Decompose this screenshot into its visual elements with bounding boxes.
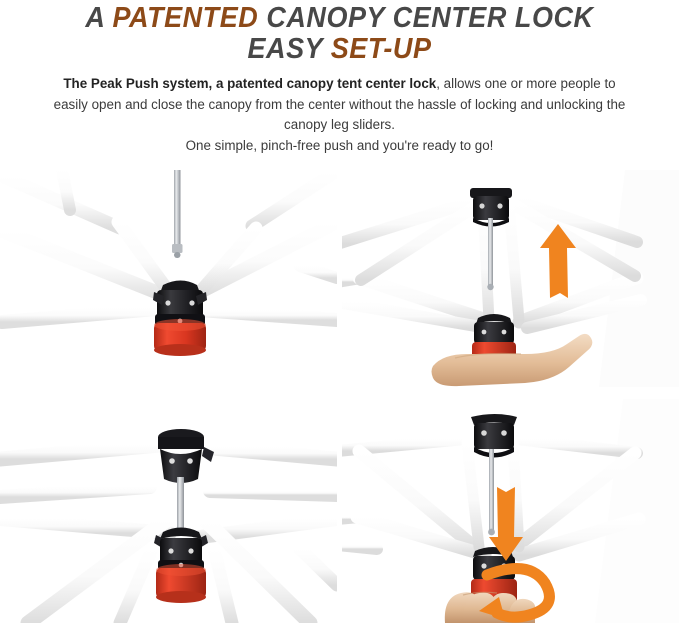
title-segment-accent-1: PATENTED — [112, 2, 258, 34]
title-segment-accent-2: SET-UP — [331, 33, 432, 65]
panel-2-lower-hub — [474, 314, 514, 344]
panel-3-canvas — [0, 399, 337, 623]
panel-3-red-collar — [156, 564, 206, 603]
panel-4-canvas — [337, 399, 679, 623]
header: A PATENTED CANOPY CENTER LOCK EASY SET-U… — [0, 0, 679, 156]
panel-2-illustration — [337, 170, 679, 387]
title-segment-plain-1: A — [85, 2, 112, 34]
page-title-line-2: EASY SET-UP — [37, 34, 642, 65]
panel-1-illustration — [0, 170, 337, 387]
panel-3-extended-rod — [177, 477, 184, 535]
title-segment-plain-3: EASY — [247, 33, 330, 65]
panel-4-illustration — [337, 399, 679, 623]
panel-2-push-rod — [487, 218, 493, 290]
panel-2-hand-push-up — [337, 170, 679, 387]
panel-3-lock-extended — [0, 399, 337, 623]
title-segment-plain-2: CANOPY CENTER LOCK — [258, 2, 593, 34]
illustration-grid-wrapper — [0, 170, 679, 623]
panel-1-frame-with-rod — [0, 170, 337, 387]
panel-1-red-collar — [154, 319, 206, 356]
panel-4-hand-pull-down — [337, 399, 679, 623]
description-bold-phrase: The Peak Push system, a patented canopy … — [63, 76, 436, 91]
description-final-line: One simple, pinch-free push and you're r… — [186, 138, 494, 153]
panel-1-canvas — [0, 170, 337, 387]
page-title-line-1: A PATENTED CANOPY CENTER LOCK — [37, 0, 642, 34]
panel-2-canvas — [337, 170, 679, 387]
illustration-grid — [0, 170, 679, 623]
description-text: The Peak Push system, a patented canopy … — [14, 65, 665, 156]
panel-3-illustration — [0, 399, 337, 623]
panel-4-push-rod — [488, 449, 495, 535]
